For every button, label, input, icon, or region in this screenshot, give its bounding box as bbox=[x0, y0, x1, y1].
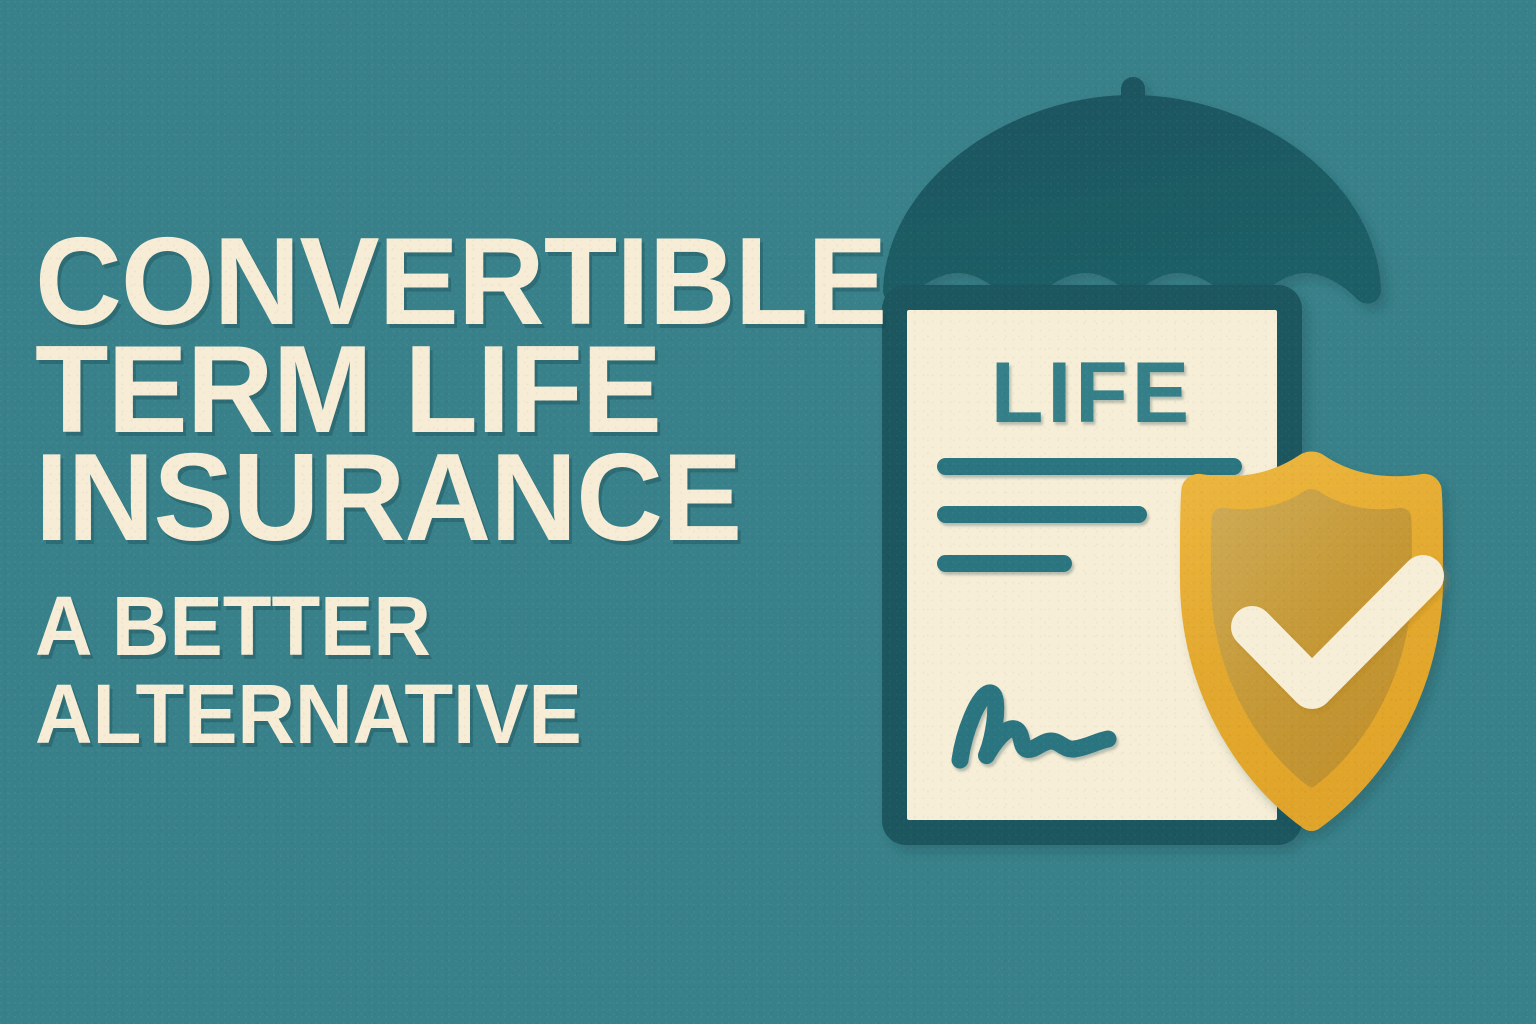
text-line-1 bbox=[937, 458, 1242, 475]
umbrella-canopy bbox=[883, 95, 1381, 306]
text-line-3 bbox=[937, 555, 1072, 572]
headline-line-1: CONVERTIBLE bbox=[35, 228, 811, 336]
text-line-2 bbox=[937, 506, 1147, 523]
document-title: LIFE bbox=[991, 345, 1193, 441]
subheadline-line-2: ALTERNATIVE bbox=[35, 670, 795, 758]
headline-line-3: INSURANCE bbox=[35, 444, 811, 552]
subheadline-block: A BETTER ALTERNATIVE bbox=[35, 582, 835, 758]
insurance-illustration: LIFE bbox=[860, 60, 1480, 910]
subheadline-line-1: A BETTER bbox=[35, 582, 795, 670]
text-block: CONVERTIBLE TERM LIFE INSURANCE A BETTER… bbox=[35, 228, 835, 758]
headline-line-2: TERM LIFE bbox=[35, 336, 811, 444]
poster-canvas: CONVERTIBLE TERM LIFE INSURANCE A BETTER… bbox=[0, 0, 1536, 1024]
